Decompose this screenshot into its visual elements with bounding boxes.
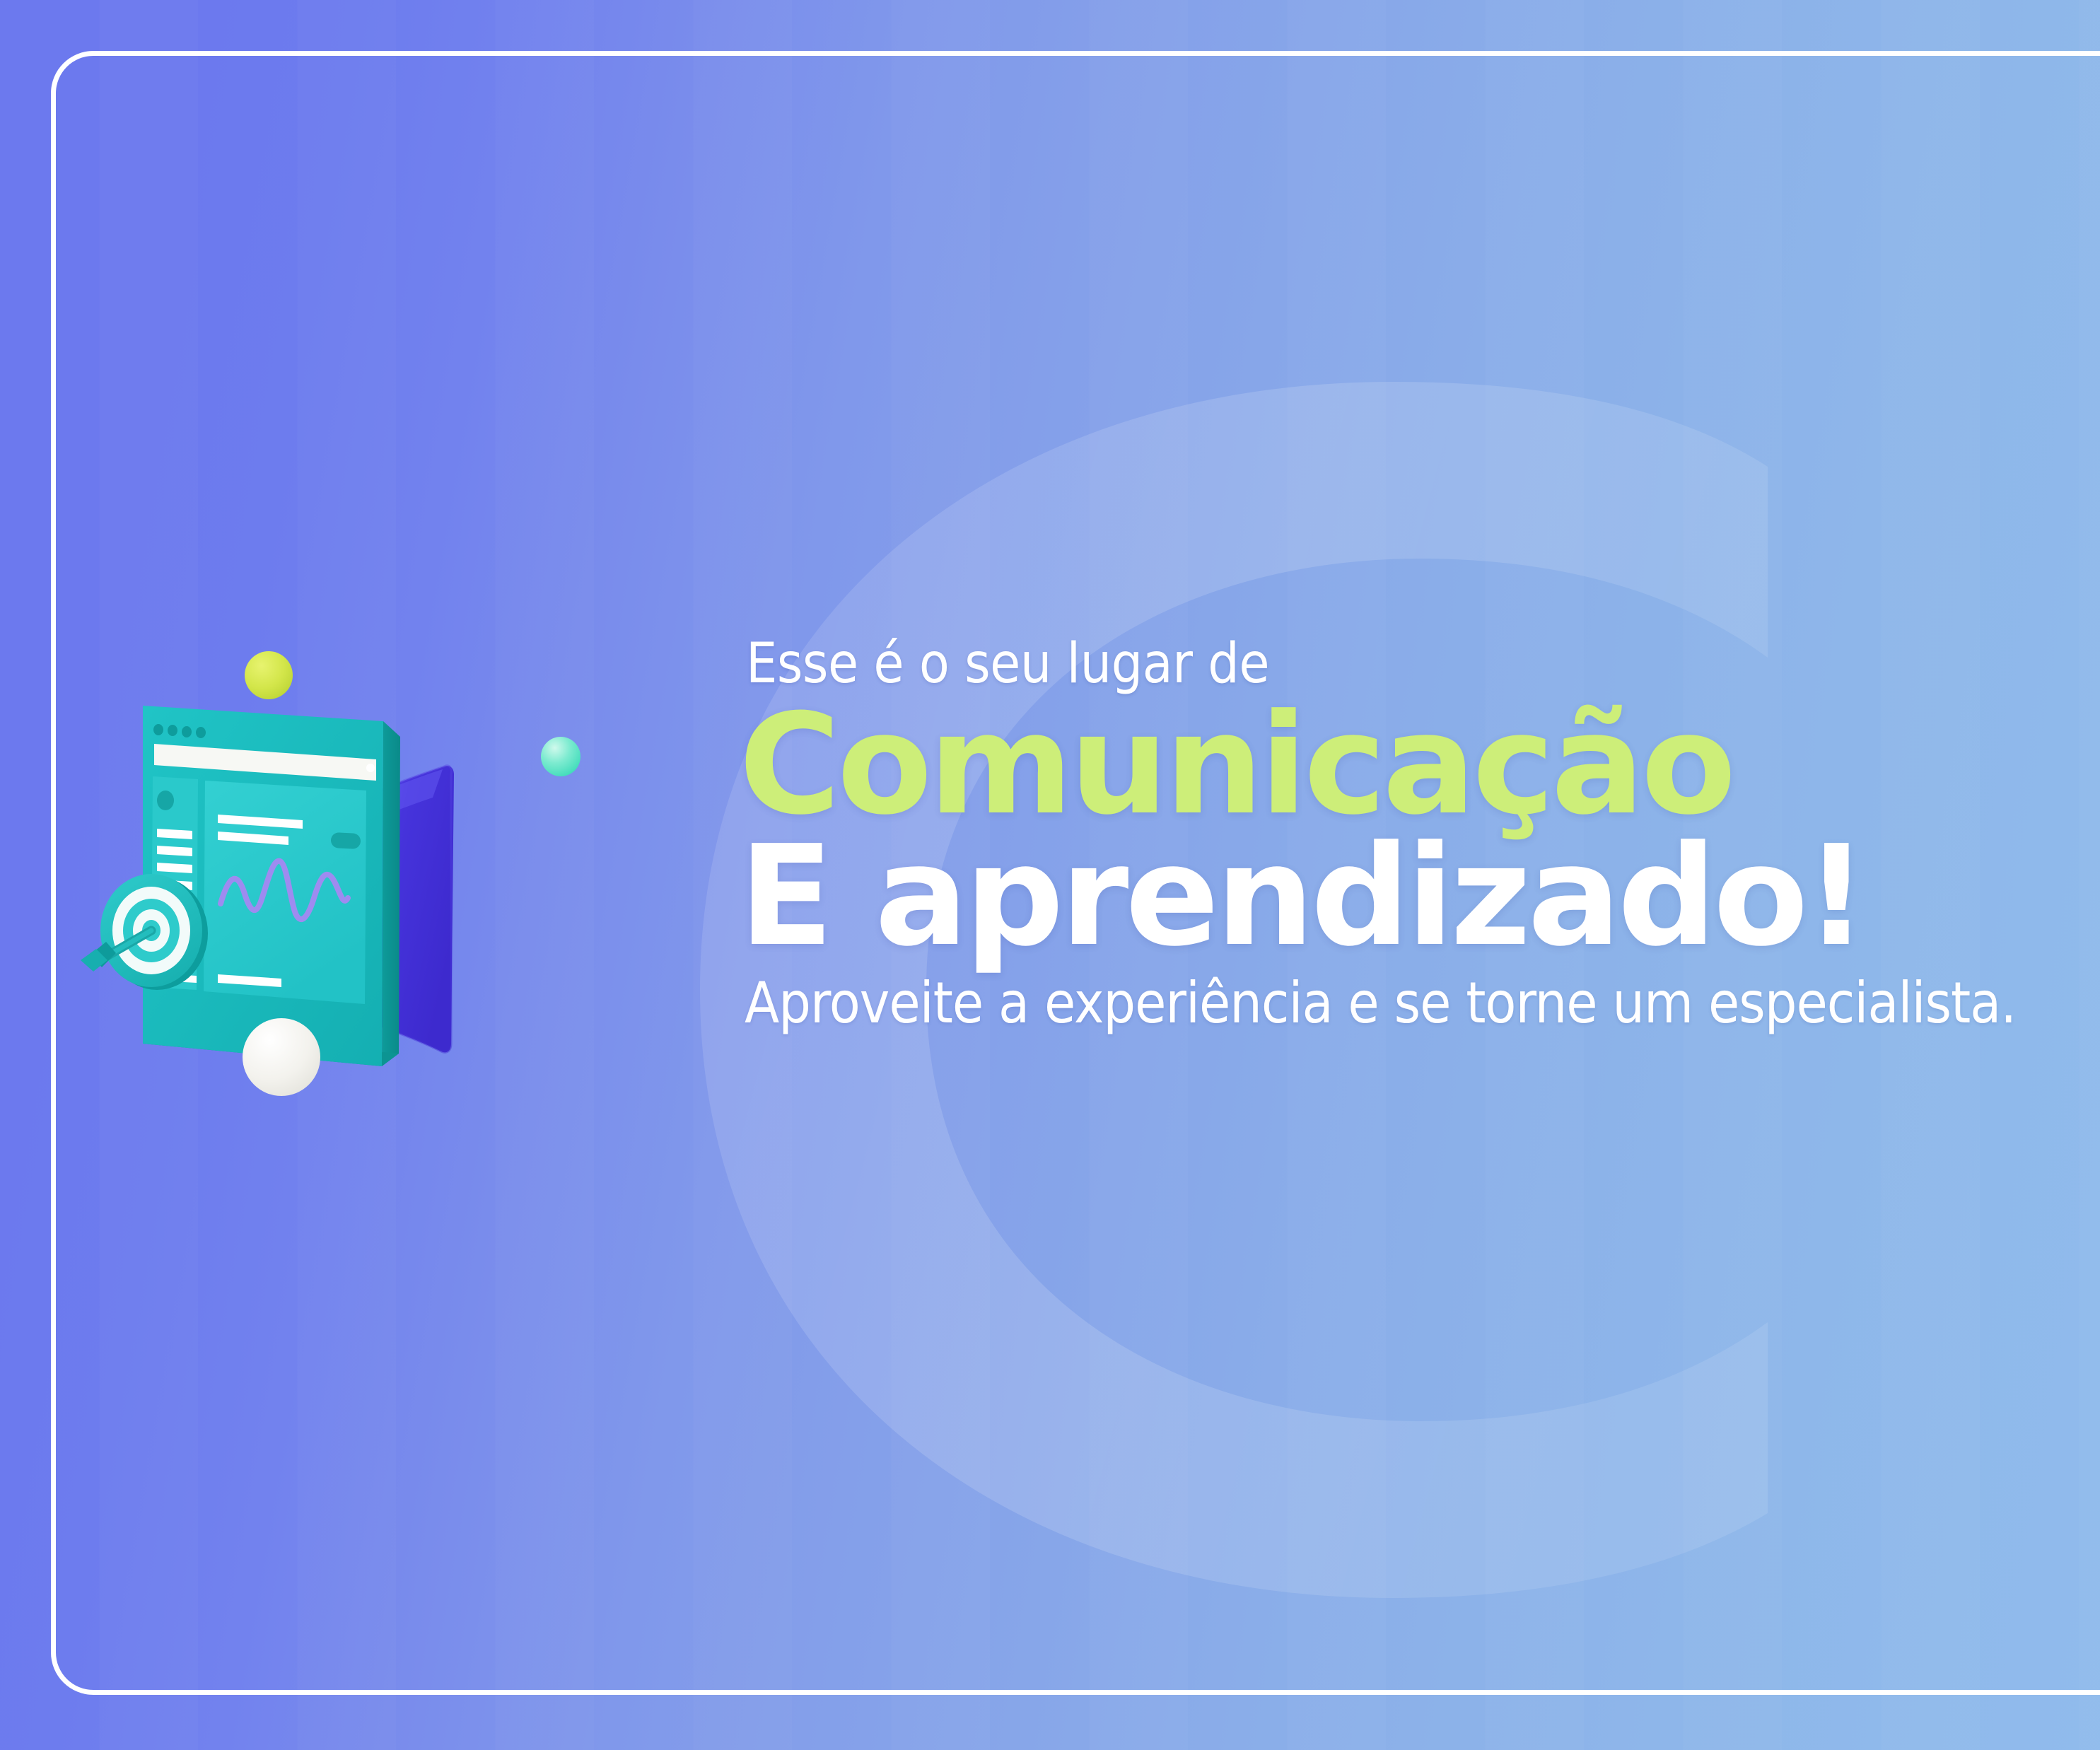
window-screen (204, 781, 366, 1004)
eyebrow-text: Esse é o seu lugar de (746, 636, 2082, 692)
promo-banner: Esse é o seu lugar de Comunicação E apre… (0, 0, 2100, 1750)
white-sphere (243, 1018, 320, 1096)
target-bullseye (81, 874, 208, 990)
hero-illustration (99, 622, 693, 1131)
headline-green: Comunicação (739, 701, 2082, 829)
subcopy-text: Aproveite a experiência e se torne um es… (745, 975, 2082, 1032)
copy-block: Esse é o seu lugar de Comunicação E apre… (739, 636, 2082, 1032)
mint-sphere (541, 737, 581, 776)
lime-sphere (245, 651, 293, 699)
headline-white: E aprendizado! (739, 832, 2082, 962)
